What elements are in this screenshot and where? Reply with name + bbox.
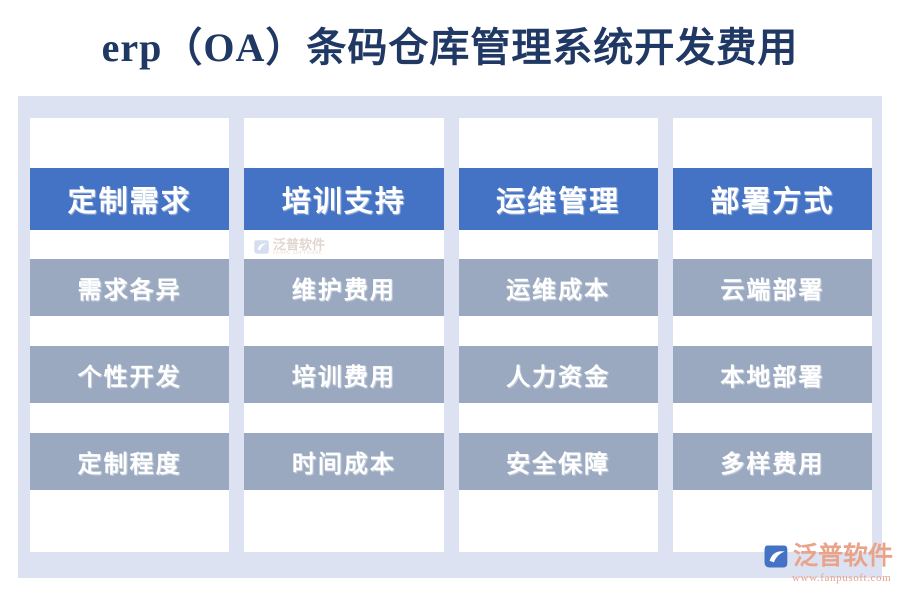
column-1-cell-2[interactable]: 个性开发 bbox=[30, 346, 229, 403]
brand-row: 泛普软件 bbox=[762, 543, 893, 570]
cell-gap bbox=[30, 316, 229, 346]
column-header-3[interactable]: 运维管理 bbox=[459, 168, 658, 230]
brand-url: www.fanpusoft.com bbox=[792, 572, 891, 584]
column-2-cell-2[interactable]: 培训费用 bbox=[244, 346, 443, 403]
column-2-cell-1[interactable]: 维护费用 bbox=[244, 259, 443, 316]
column-top-spacer bbox=[673, 118, 872, 168]
brand-name: 泛普软件 bbox=[793, 544, 893, 569]
feature-column-4: 部署方式 云端部署 本地部署 多样费用 bbox=[673, 118, 872, 552]
column-bottom-spacer bbox=[30, 490, 229, 552]
column-3-cell-3[interactable]: 安全保障 bbox=[459, 433, 658, 490]
cell-gap bbox=[459, 316, 658, 346]
cell-gap bbox=[673, 316, 872, 346]
column-top-spacer bbox=[244, 118, 443, 168]
column-bottom-spacer bbox=[459, 490, 658, 552]
column-bottom-spacer bbox=[244, 490, 443, 552]
feature-column-3: 运维管理 运维成本 人力资金 安全保障 bbox=[459, 118, 658, 552]
column-top-spacer bbox=[459, 118, 658, 168]
cell-gap bbox=[459, 403, 658, 433]
feature-columns: 定制需求 需求各异 个性开发 定制程度 培训支持 维护费用 培训费用 时间成本 … bbox=[30, 118, 872, 552]
column-header-gap bbox=[673, 230, 872, 259]
cell-gap bbox=[30, 403, 229, 433]
fanpu-logo-icon bbox=[762, 543, 789, 570]
brand-logo: 泛普软件 www.fanpusoft.com bbox=[762, 543, 892, 589]
feature-column-2: 培训支持 维护费用 培训费用 时间成本 bbox=[244, 118, 443, 552]
column-top-spacer bbox=[30, 118, 229, 168]
column-1-cell-1[interactable]: 需求各异 bbox=[30, 259, 229, 316]
column-1-cell-3[interactable]: 定制程度 bbox=[30, 433, 229, 490]
cell-gap bbox=[673, 403, 872, 433]
feature-column-1: 定制需求 需求各异 个性开发 定制程度 bbox=[30, 118, 229, 552]
column-2-cell-3[interactable]: 时间成本 bbox=[244, 433, 443, 490]
cell-gap bbox=[244, 403, 443, 433]
column-header-gap bbox=[30, 230, 229, 259]
column-header-2[interactable]: 培训支持 bbox=[244, 168, 443, 230]
column-3-cell-2[interactable]: 人力资金 bbox=[459, 346, 658, 403]
column-4-cell-1[interactable]: 云端部署 bbox=[673, 259, 872, 316]
page-title: erp（OA）条码仓库管理系统开发费用 bbox=[102, 28, 799, 68]
cell-gap bbox=[244, 316, 443, 346]
column-header-1[interactable]: 定制需求 bbox=[30, 168, 229, 230]
column-header-4[interactable]: 部署方式 bbox=[673, 168, 872, 230]
column-4-cell-3[interactable]: 多样费用 bbox=[673, 433, 872, 490]
column-3-cell-1[interactable]: 运维成本 bbox=[459, 259, 658, 316]
page-title-bar: erp（OA）条码仓库管理系统开发费用 bbox=[0, 0, 900, 96]
column-header-gap bbox=[244, 230, 443, 259]
column-header-gap bbox=[459, 230, 658, 259]
column-4-cell-2[interactable]: 本地部署 bbox=[673, 346, 872, 403]
